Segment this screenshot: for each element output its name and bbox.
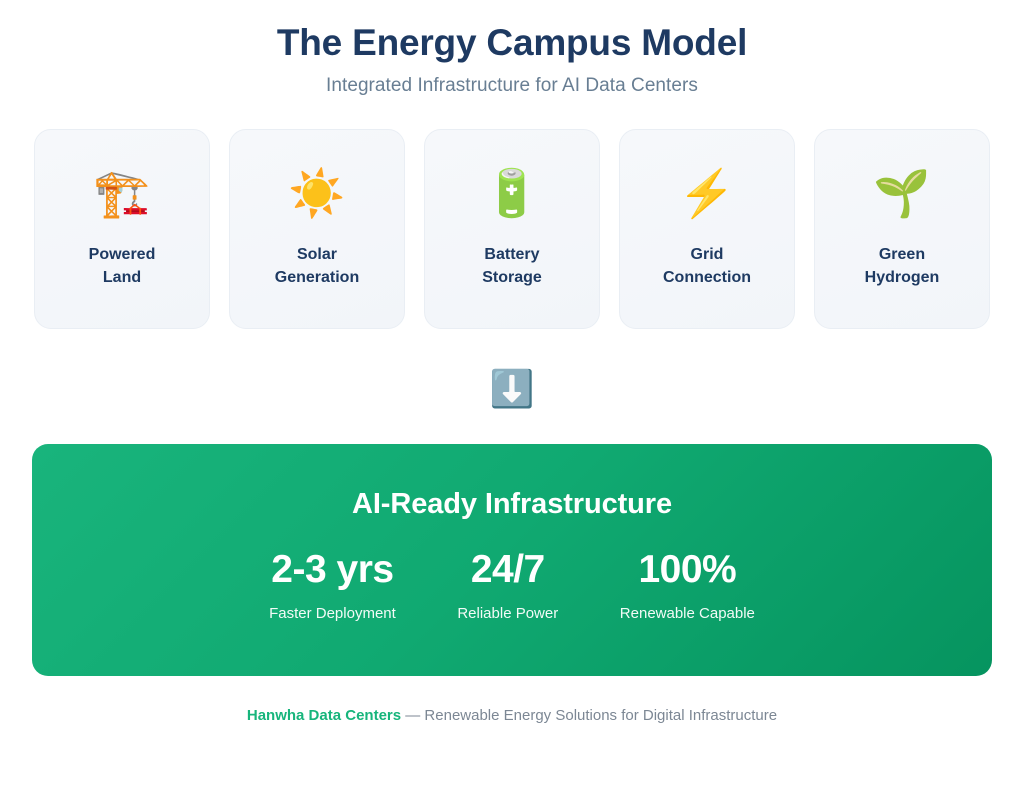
flow-connector: ⬇️ [0,371,1024,407]
footer-brand: Hanwha Data Centers [247,707,401,724]
page-subtitle: Integrated Infrastructure for AI Data Ce… [0,75,1024,97]
stat-value: 24/7 [471,549,545,591]
stat-value: 100% [638,549,736,591]
footer-tagline: — Renewable Energy Solutions for Digital… [401,707,777,724]
battery-icon: 🔋 [483,165,540,221]
stat-value: 2-3 yrs [271,549,393,591]
seedling-icon: 🌱 [873,165,930,221]
ai-ready-infrastructure-banner: AI-Ready Infrastructure 2-3 yrs Faster D… [32,444,992,676]
pillar-card-label: Battery Storage [482,243,542,289]
page-title: The Energy Campus Model [0,22,1024,63]
construction-crane-icon: 🏗️ [93,165,150,221]
pillar-card-grid-connection[interactable]: ⚡ Grid Connection [619,129,795,329]
pillar-card-solar-generation[interactable]: ☀️ Solar Generation [229,129,405,329]
pillar-card-green-hydrogen[interactable]: 🌱 Green Hydrogen [814,129,990,329]
stat-faster-deployment: 2-3 yrs Faster Deployment [269,549,396,621]
down-arrow-icon: ⬇️ [490,371,535,407]
pillar-card-powered-land[interactable]: 🏗️ Powered Land [34,129,210,329]
pillar-card-label: Green Hydrogen [865,243,940,289]
lightning-bolt-icon: ⚡ [678,165,735,221]
stat-renewable-capable: 100% Renewable Capable [620,549,755,621]
footer: Hanwha Data Centers — Renewable Energy S… [0,707,1024,724]
pillar-card-label: Solar Generation [275,243,359,289]
stat-label: Faster Deployment [269,605,396,622]
pillar-card-row: 🏗️ Powered Land ☀️ Solar Generation 🔋 Ba… [0,129,1024,329]
pillar-card-label: Powered Land [89,243,156,289]
stat-label: Reliable Power [457,605,558,622]
header: The Energy Campus Model Integrated Infra… [0,0,1024,97]
stats-row: 2-3 yrs Faster Deployment 24/7 Reliable … [269,549,755,621]
pillar-card-battery-storage[interactable]: 🔋 Battery Storage [424,129,600,329]
stat-reliable-power: 24/7 Reliable Power [448,549,568,621]
sun-icon: ☀️ [288,165,345,221]
stat-label: Renewable Capable [620,605,755,622]
banner-title: AI-Ready Infrastructure [352,488,672,521]
energy-campus-infographic: The Energy Campus Model Integrated Infra… [0,0,1024,800]
pillar-card-label: Grid Connection [663,243,751,289]
